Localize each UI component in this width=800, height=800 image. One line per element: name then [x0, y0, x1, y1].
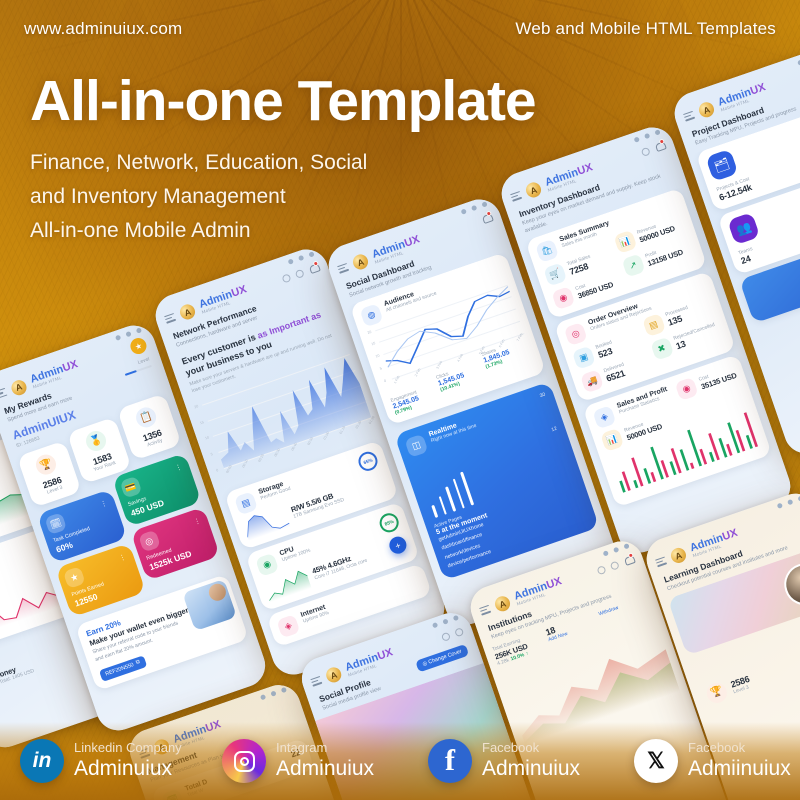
coin-icon: ◎: [138, 530, 161, 553]
y-tick: 5: [210, 452, 213, 456]
storage-percent-ring: 65%: [356, 449, 380, 473]
y-tick: 20: [367, 329, 372, 334]
y-tick: 0: [383, 378, 386, 382]
hero-line-3: All-in-one Mobile Admin: [30, 214, 630, 248]
facebook-icon: f: [428, 739, 472, 783]
cpu-percent-ring: 85%: [377, 511, 401, 535]
y-tick: 10: [205, 436, 210, 441]
tagline-right: Web and Mobile HTML Templates: [515, 19, 776, 39]
social-network-name: Linkedin Company: [74, 741, 182, 755]
social-linkedin[interactable]: in Linkedin Company Adminuiux: [20, 739, 182, 783]
medal-icon: 🥇: [83, 428, 108, 453]
metric-engagement: Engagement 2,545.05 (0.79%): [390, 383, 441, 415]
y-tick: 5: [379, 366, 382, 370]
tile-menu-icon[interactable]: ⋮: [118, 553, 127, 563]
social-instagram[interactable]: Intagram Adminuiux: [222, 739, 374, 783]
trophy-icon: 🏆: [33, 452, 58, 477]
copy-icon[interactable]: ⧉: [135, 659, 141, 667]
realtime-icon: ◫: [404, 433, 428, 457]
menu-icon[interactable]: [683, 111, 695, 122]
instructor-avatar: [778, 557, 800, 610]
trophy-icon: 🏆: [704, 680, 729, 705]
social-strip: in Linkedin Company Adminuiux Intagram A…: [0, 722, 800, 800]
y-tick: 10: [375, 354, 380, 359]
delivered-icon: 🚚: [580, 369, 604, 393]
menu-icon[interactable]: [310, 676, 322, 687]
gear-icon[interactable]: [454, 627, 464, 637]
cost-icon: ◉: [551, 286, 575, 310]
page-title: All-in-one Template: [30, 72, 630, 132]
task-icon: 🗓: [44, 512, 67, 535]
teams-icon: 👥: [727, 212, 760, 245]
y-tick: 15: [199, 420, 204, 425]
audience-icon: ◍: [359, 303, 383, 327]
social-handle: Admiinuiux: [688, 756, 791, 781]
app-logo-icon: A: [669, 546, 688, 565]
notification-bell-icon[interactable]: [653, 140, 666, 154]
tile-menu-icon[interactable]: ⋮: [99, 499, 108, 509]
menu-icon[interactable]: [655, 556, 667, 567]
hero-line-2: and Inventory Management: [30, 180, 630, 214]
menu-icon[interactable]: [164, 313, 176, 324]
gear-icon[interactable]: [610, 560, 620, 570]
trend-up-icon: ↑: [525, 650, 529, 656]
trend-up-icon: ↗: [621, 253, 645, 277]
scale-top: 30: [539, 391, 546, 398]
search-icon[interactable]: [281, 273, 291, 283]
search-icon[interactable]: [441, 631, 451, 641]
site-url: www.adminuiux.com: [24, 19, 182, 39]
rejected-icon: ✖: [650, 337, 674, 361]
social-x[interactable]: 𝕏 Facebook Admiinuiux: [634, 739, 791, 783]
social-network-name: Intagram: [276, 741, 374, 755]
social-handle: Adminuiux: [482, 756, 580, 781]
hero-subtitle: Finance, Network, Education, Social and …: [30, 146, 630, 248]
linkedin-icon: in: [20, 739, 64, 783]
cost-icon: ◉: [674, 377, 698, 401]
booked-icon: ▣: [572, 345, 596, 369]
stats-icon: ◈: [592, 405, 616, 429]
revenue-icon: 📊: [600, 428, 624, 452]
social-handle: Adminuiux: [276, 756, 374, 781]
menu-icon[interactable]: [337, 263, 349, 274]
wifi-icon: ◈: [276, 614, 300, 638]
search-icon[interactable]: [596, 565, 606, 575]
y-tick: 0: [216, 468, 219, 472]
app-logo-icon: A: [493, 594, 512, 613]
cpu-icon: ◉: [255, 553, 279, 577]
social-network-name: Facebook: [482, 741, 580, 755]
app-logo-icon: A: [324, 666, 343, 685]
y-tick: 15: [371, 342, 376, 347]
social-facebook[interactable]: f Facebook Adminuiux: [428, 739, 580, 783]
app-logo-icon: A: [351, 253, 370, 272]
scale-bottom: 12: [551, 425, 558, 432]
add-button[interactable]: +: [387, 535, 409, 557]
gear-icon[interactable]: [295, 269, 305, 279]
wallet-icon: 💳: [119, 476, 142, 499]
x-twitter-icon: 𝕏: [634, 739, 678, 783]
hero-line-1: Finance, Network, Education, Social: [30, 146, 630, 180]
folder-icon: 🗂: [705, 148, 738, 181]
social-handle: Adminuiux: [74, 756, 182, 781]
notification-bell-icon[interactable]: [307, 262, 320, 276]
app-logo-icon: A: [178, 303, 197, 322]
tile-menu-icon[interactable]: ⋮: [193, 517, 202, 527]
instagram-icon: [222, 739, 266, 783]
processed-icon: ▤: [641, 313, 665, 337]
cart-icon: 🛒: [543, 262, 567, 286]
y-tick: 20: [194, 404, 199, 409]
menu-icon[interactable]: [0, 388, 7, 399]
clipboard-icon: 📋: [133, 405, 158, 430]
app-logo-icon: A: [9, 378, 28, 397]
search-icon[interactable]: [641, 147, 651, 157]
hero-section: All-in-one Template Finance, Network, Ed…: [30, 72, 630, 248]
storage-icon: ▤: [234, 491, 258, 515]
menu-icon[interactable]: [479, 605, 491, 616]
notification-bell-icon[interactable]: [622, 554, 635, 568]
app-logo-icon: A: [697, 100, 716, 119]
tile-menu-icon[interactable]: ⋮: [174, 463, 183, 473]
learning-stat: 🏆 2586 Level 3 2854 Videos: [698, 636, 800, 708]
order-icon: ◎: [564, 322, 588, 346]
social-network-name: Facebook: [688, 741, 791, 755]
star-icon: ★: [63, 566, 86, 589]
top-bar: www.adminuiux.com Web and Mobile HTML Te…: [0, 0, 800, 58]
